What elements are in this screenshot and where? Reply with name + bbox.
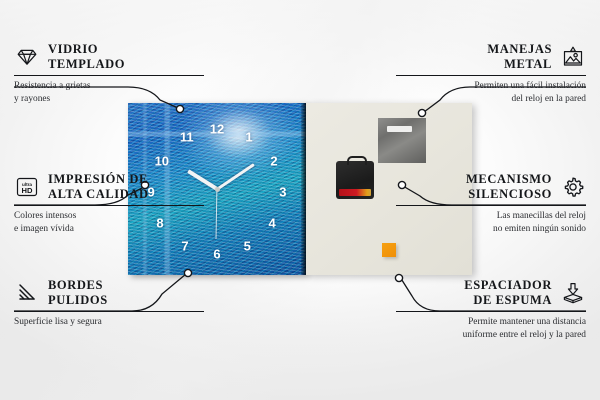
clock-numeral-2: 2	[270, 155, 277, 168]
callout-mecanismo-silencioso: MECANISMO SILENCIOSO Las manecillas del …	[396, 172, 586, 235]
clock-numeral-5: 5	[244, 239, 251, 252]
clock-numeral-11: 11	[180, 131, 194, 144]
callout-divider	[14, 311, 204, 312]
callout-title: IMPRESIÓN DE ALTA CALIDAD	[48, 172, 149, 202]
wall-frame-icon	[560, 44, 586, 70]
diamond-icon	[14, 44, 40, 70]
hanger-slot	[387, 126, 412, 132]
svg-text:HD: HD	[22, 186, 33, 195]
callout-divider	[14, 205, 204, 206]
callout-divider	[396, 205, 586, 206]
callout-bordes-pulidos: BORDES PULIDOS Superficie lisa y segura	[14, 278, 204, 329]
callout-divider	[396, 311, 586, 312]
callout-title: MANEJAS METAL	[487, 42, 552, 72]
clock-numeral-3: 3	[279, 186, 286, 199]
callout-subtitle: Superficie lisa y segura	[14, 316, 204, 329]
callout-divider	[396, 75, 586, 76]
callout-manejas-metal: MANEJAS METAL Permiten una fácil instala…	[396, 42, 586, 105]
mechanism-battery	[339, 189, 371, 196]
mechanism-loop	[347, 156, 367, 165]
callout-divider	[14, 75, 204, 76]
callout-espaciador-espuma: ESPACIADOR DE ESPUMA Permite mantener un…	[396, 278, 586, 341]
infographic-canvas: 12 1 2 3 4 5 6 7 8 9 10 11	[0, 0, 600, 400]
foam-spacer-icon	[560, 280, 586, 306]
foam-spacer	[382, 243, 396, 257]
callout-title: MECANISMO SILENCIOSO	[466, 172, 552, 202]
gear-icon	[560, 174, 586, 200]
ultra-hd-icon: ultra HD	[14, 174, 40, 200]
callout-subtitle: Las manecillas del reloj no emiten ningú…	[396, 210, 586, 235]
callout-impresion-alta-calidad: ultra HD IMPRESIÓN DE ALTA CALIDAD Color…	[14, 172, 204, 235]
clock-numeral-10: 10	[155, 155, 169, 168]
metal-hanger	[378, 118, 426, 163]
callout-subtitle: Permite mantener una distancia uniforme …	[396, 316, 586, 341]
polished-edge-icon	[14, 280, 40, 306]
callout-subtitle: Resistencia a grietas y rayones	[14, 80, 204, 105]
callout-title: BORDES PULIDOS	[48, 278, 108, 308]
callout-subtitle: Permiten una fácil instalación del reloj…	[396, 80, 586, 105]
callout-title: VIDRIO TEMPLADO	[48, 42, 125, 72]
clock-numeral-7: 7	[181, 239, 188, 252]
clock-numeral-12: 12	[210, 122, 224, 135]
clock-numeral-1: 1	[245, 131, 252, 144]
callout-title: ESPACIADOR DE ESPUMA	[464, 278, 552, 308]
callout-vidrio-templado: VIDRIO TEMPLADO Resistencia a grietas y …	[14, 42, 204, 105]
quartz-mechanism	[336, 161, 374, 199]
clock-center-hub	[215, 187, 220, 192]
callout-subtitle: Colores intensos e imagen vívida	[14, 210, 204, 235]
clock-numeral-4: 4	[269, 217, 276, 230]
clock-numeral-6: 6	[213, 248, 220, 261]
